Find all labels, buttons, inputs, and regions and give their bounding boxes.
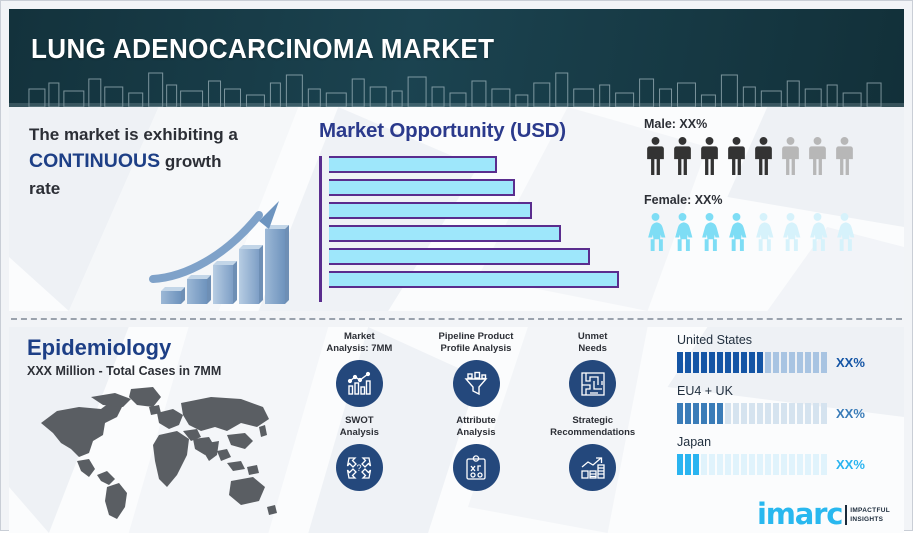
region-segment	[725, 454, 731, 475]
capability-market-analysis[interactable]: Market Analysis: 7MM	[301, 331, 418, 407]
header-banner: LUNG ADENOCARCINOMA MARKET	[9, 9, 904, 107]
caption-line-2: Profile Analysis	[441, 343, 512, 354]
male-figure-row	[644, 137, 904, 175]
market-opportunity-bar	[329, 156, 497, 173]
region-segment	[725, 403, 731, 424]
region-percent: XX%	[836, 355, 865, 370]
capability-caption: Attribute Analysis	[418, 415, 535, 441]
world-map-icon	[31, 383, 279, 523]
region-segment	[773, 454, 779, 475]
capability-pipeline-product[interactable]: Pipeline Product Profile Analysis	[418, 331, 535, 407]
caption-line-2: Analysis	[456, 427, 495, 438]
region-item: JapanXX%	[677, 435, 902, 475]
male-person-icon	[644, 137, 667, 175]
section-divider	[11, 318, 902, 320]
region-segment	[709, 352, 715, 373]
region-segment	[693, 403, 699, 424]
market-opportunity-bars	[319, 156, 619, 302]
market-opportunity-title: Market Opportunity (USD)	[319, 119, 619, 143]
capability-icon-grid: Market Analysis: 7MM	[301, 331, 651, 491]
region-item: EU4 + UKXX%	[677, 384, 902, 424]
region-segment	[701, 403, 707, 424]
male-person-icon	[806, 137, 829, 175]
region-segment	[781, 454, 787, 475]
region-segment	[717, 352, 723, 373]
region-segment	[797, 352, 803, 373]
middle-section: The market is exhibiting a CONTINUOUS gr…	[9, 107, 904, 311]
female-person-icon	[671, 213, 694, 251]
market-analysis-chart-icon[interactable]	[336, 360, 383, 407]
region-segment	[693, 454, 699, 475]
region-segment	[757, 454, 763, 475]
logo-wordmark: imarc	[757, 501, 842, 527]
region-segments	[677, 454, 827, 475]
tagline-line-2: INSIGHTS	[850, 516, 883, 523]
female-label: Female: XX%	[644, 193, 904, 207]
male-person-icon	[698, 137, 721, 175]
region-segment	[709, 403, 715, 424]
capability-swot-analysis[interactable]: SWOT Analysis ?	[301, 415, 418, 491]
region-segment	[781, 403, 787, 424]
capability-caption: Market Analysis: 7MM	[301, 331, 418, 357]
caption-line-1: SWOT	[345, 415, 374, 426]
market-opportunity-bar	[329, 271, 619, 288]
female-figure-row	[644, 213, 904, 251]
bottom-section: Epidemiology XXX Million - Total Cases i…	[9, 327, 904, 533]
tagline-line-1: IMPACTFUL	[850, 507, 890, 514]
logo-tagline: IMPACTFUL INSIGHTS	[850, 507, 890, 524]
capability-caption: Strategic Recommendations	[534, 415, 651, 441]
region-name: EU4 + UK	[677, 384, 902, 398]
region-segment	[797, 403, 803, 424]
growth-chart-icon	[147, 195, 297, 305]
region-bar-row: XX%	[677, 454, 902, 475]
clipboard-icon[interactable]	[453, 444, 500, 491]
svg-text:?: ?	[357, 463, 362, 473]
caption-line-1: Pipeline Product	[439, 331, 514, 342]
region-segments	[677, 403, 827, 424]
male-person-icon	[671, 137, 694, 175]
epidemiology-title: Epidemiology	[27, 335, 171, 361]
statement-line-3: rate	[29, 179, 60, 198]
region-segment	[677, 352, 683, 373]
region-segment	[685, 403, 691, 424]
maze-icon[interactable]	[569, 360, 616, 407]
capability-unmet-needs[interactable]: Unmet Needs	[534, 331, 651, 407]
region-segment	[781, 352, 787, 373]
region-segment	[773, 352, 779, 373]
region-segment	[749, 403, 755, 424]
region-segment	[733, 352, 739, 373]
caption-line-2: Analysis: 7MM	[326, 343, 392, 354]
male-person-icon	[833, 137, 856, 175]
market-opportunity-bar	[329, 225, 561, 242]
statement-line-1: The market is exhibiting a	[29, 125, 238, 144]
city-skyline-icon	[9, 61, 904, 107]
region-percent: XX%	[836, 457, 865, 472]
region-segment	[709, 454, 715, 475]
region-segment	[749, 454, 755, 475]
capability-caption: SWOT Analysis	[301, 415, 418, 441]
female-person-icon	[752, 213, 775, 251]
region-segment	[821, 352, 827, 373]
caption-line-1: Attribute	[456, 415, 496, 426]
male-person-icon	[779, 137, 802, 175]
female-person-icon	[833, 213, 856, 251]
region-segment	[765, 454, 771, 475]
male-person-icon	[752, 137, 775, 175]
region-segment	[733, 454, 739, 475]
capability-row-top: Market Analysis: 7MM	[301, 331, 651, 407]
region-segment	[797, 454, 803, 475]
region-segment	[821, 403, 827, 424]
caption-line-2: Recommendations	[550, 427, 635, 438]
region-bar-row: XX%	[677, 352, 902, 373]
capability-attribute-analysis[interactable]: Attribute Analysis	[418, 415, 535, 491]
region-segment	[725, 352, 731, 373]
imarc-logo: imarc IMPACTFUL INSIGHTS	[757, 501, 890, 527]
region-share-list: United StatesXX%EU4 + UKXX%JapanXX%	[677, 333, 902, 486]
female-person-icon	[779, 213, 802, 251]
statement-line-2: growth	[160, 152, 221, 171]
region-segment	[749, 352, 755, 373]
region-segment	[765, 352, 771, 373]
region-segment	[805, 403, 811, 424]
region-segment	[717, 403, 723, 424]
region-name: United States	[677, 333, 902, 347]
page-title: LUNG ADENOCARCINOMA MARKET	[31, 33, 494, 65]
caption-line-2: Analysis	[340, 427, 379, 438]
region-segment	[693, 352, 699, 373]
caption-line-1: Unmet	[578, 331, 608, 342]
region-segment	[789, 454, 795, 475]
epidemiology-subtitle: XXX Million - Total Cases in 7MM	[27, 364, 221, 378]
region-segment	[741, 403, 747, 424]
female-person-icon	[698, 213, 721, 251]
capability-strategic-recommendations[interactable]: Strategic Recommendations	[534, 415, 651, 491]
female-person-icon	[806, 213, 829, 251]
caption-line-1: Strategic	[572, 415, 613, 426]
region-segment	[685, 454, 691, 475]
region-segment	[757, 403, 763, 424]
market-opportunity-chart: Market Opportunity (USD)	[319, 119, 619, 302]
region-segment	[789, 352, 795, 373]
male-person-icon	[725, 137, 748, 175]
growth-bars-arrow-icon[interactable]	[569, 444, 616, 491]
region-segment	[677, 454, 683, 475]
funnel-icon[interactable]	[453, 360, 500, 407]
logo-separator	[845, 505, 847, 525]
region-bar-row: XX%	[677, 403, 902, 424]
market-opportunity-bar	[329, 179, 515, 196]
capability-row-bottom: SWOT Analysis ?	[301, 415, 651, 491]
market-opportunity-bar	[329, 202, 532, 219]
region-segments	[677, 352, 827, 373]
capability-caption: Pipeline Product Profile Analysis	[418, 331, 535, 357]
statement-emphasis: CONTINUOUS	[29, 150, 160, 172]
market-opportunity-bar	[329, 248, 590, 265]
region-segment	[717, 454, 723, 475]
region-segment	[741, 454, 747, 475]
market-statement: The market is exhibiting a CONTINUOUS gr…	[29, 121, 289, 202]
region-item: United StatesXX%	[677, 333, 902, 373]
region-segment	[701, 352, 707, 373]
region-segment	[741, 352, 747, 373]
capability-caption: Unmet Needs	[534, 331, 651, 357]
region-segment	[813, 454, 819, 475]
region-segment	[757, 352, 763, 373]
region-segment	[789, 403, 795, 424]
caption-line-2: Needs	[578, 343, 607, 354]
region-segment	[733, 403, 739, 424]
region-segment	[813, 403, 819, 424]
infographic-root: LUNG ADENOCARCINOMA MARKET The market is…	[0, 0, 913, 531]
gender-demographics: Male: XX% Female: XX%	[644, 117, 904, 269]
female-person-icon	[644, 213, 667, 251]
region-segment	[821, 454, 827, 475]
region-segment	[813, 352, 819, 373]
region-segment	[685, 352, 691, 373]
swot-arrows-question-icon[interactable]: ?	[336, 444, 383, 491]
region-name: Japan	[677, 435, 902, 449]
region-segment	[677, 403, 683, 424]
female-person-icon	[725, 213, 748, 251]
region-percent: XX%	[836, 406, 865, 421]
region-segment	[765, 403, 771, 424]
male-label: Male: XX%	[644, 117, 904, 131]
region-segment	[773, 403, 779, 424]
region-segment	[805, 454, 811, 475]
caption-line-1: Market	[344, 331, 375, 342]
region-segment	[805, 352, 811, 373]
region-segment	[701, 454, 707, 475]
